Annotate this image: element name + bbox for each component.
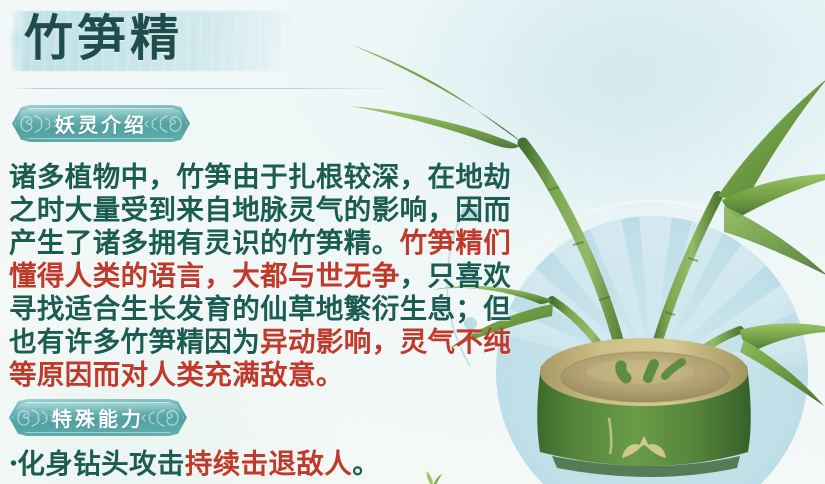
intro-line: 懂得人类的语言，大都与世无争，只喜欢 [9,259,471,292]
corner-bamboo-sprout-icon [421,468,443,484]
intro-line: 产生了诸多拥有灵识的竹笋精。竹笋精们 [9,226,471,259]
intro-line: 也有许多竹笋精因为异动影响，灵气不纯 [9,325,471,358]
section-badge-ability-label: 特殊能力 [52,403,144,432]
section-badge-intro: 妖灵介绍 [12,105,190,142]
ability-highlight-text: 持续击退敌人 [185,448,352,479]
intro-highlight-text: 懂得人类的语言，大都与世无争 [9,260,400,291]
intro-text: ，只喜欢 [400,260,512,291]
ability-text: 。 [352,448,380,479]
intro-paragraph: 诸多植物中，竹笋由于扎根较深，在地劫之时大量受到来自地脉灵气的影响，因而产生了诸… [9,160,471,391]
intro-highlight-text: 异动影响，灵气不纯 [260,326,511,357]
header-divider [11,88,403,89]
intro-highlight-text: 竹笋精们 [400,227,512,258]
intro-line: 之时大量受到来自地脉灵气的影响，因而 [9,193,471,226]
intro-line: 等原因而对人类充满敌意。 [9,358,471,391]
intro-text: 也有许多竹笋精因为 [9,326,260,357]
intro-text: 产生了诸多拥有灵识的竹笋精。 [9,227,400,258]
intro-line: 寻找适合生长发育的仙草地繁衍生息；但 [9,292,471,325]
intro-text: 寻找适合生长发育的仙草地繁衍生息；但 [9,293,511,324]
character-profile-page: 竹笋精 妖灵介绍 诸多植物中，竹笋由于扎根较深，在地劫之时大量受到来 [0,0,825,484]
intro-text: 之时大量受到来自地脉灵气的影响，因而 [9,194,511,225]
section-badge-intro-label: 妖灵介绍 [55,109,147,138]
intro-text: 诸多植物中，竹笋由于扎根较深，在地劫 [9,161,511,192]
page-title: 竹笋精 [24,8,183,70]
ability-bullet-item: •化身钻头攻击持续击退敌人。 [10,447,380,481]
filigree-swirl-icon [138,404,182,432]
intro-highlight-text: 等原因而对人类充满敌意。 [9,359,344,390]
filigree-swirl-icon [141,110,185,138]
intro-line: 诸多植物中，竹笋由于扎根较深，在地劫 [9,160,471,193]
section-badge-ability: 特殊能力 [9,399,187,436]
ability-text: 化身钻头攻击 [17,448,184,479]
